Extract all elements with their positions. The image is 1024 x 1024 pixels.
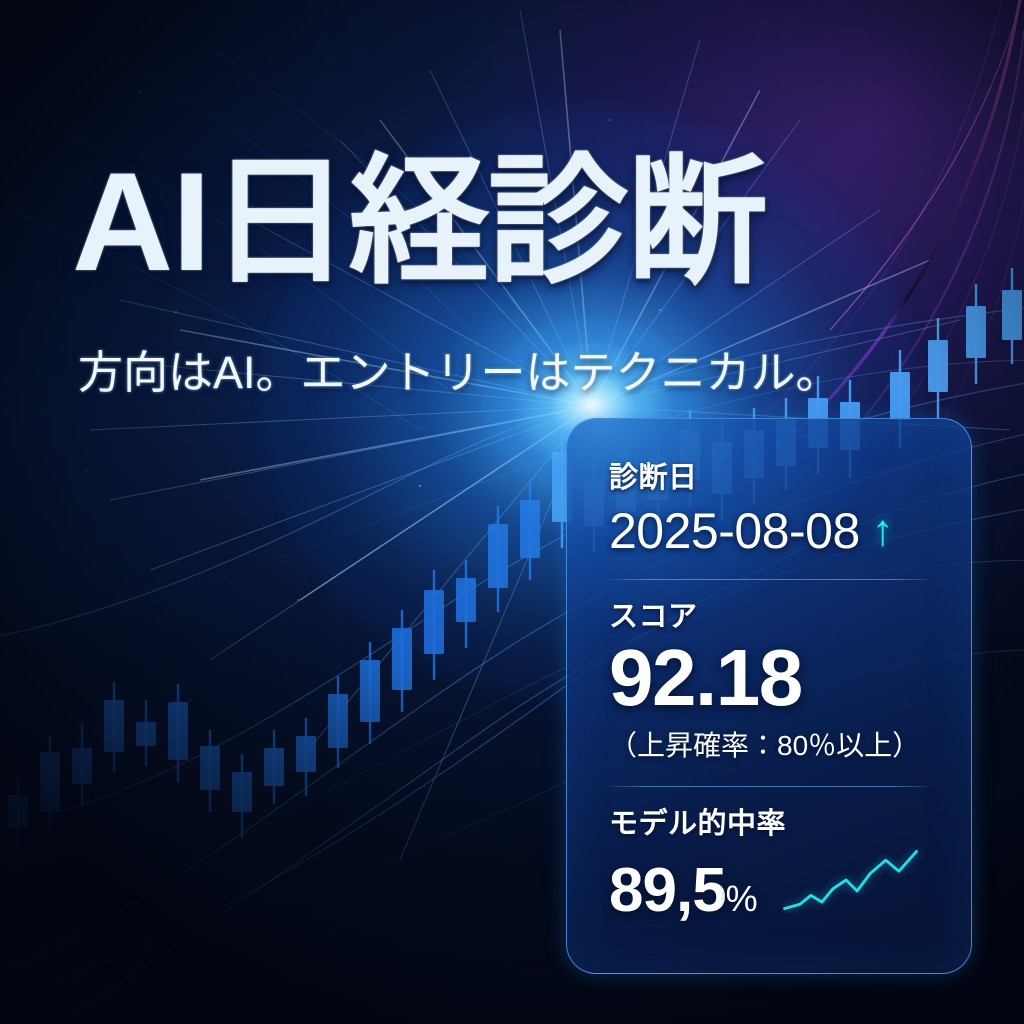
diagnosis-date-label: 診断日 <box>609 463 931 495</box>
card-divider-1 <box>609 579 931 580</box>
model-accuracy-row: 89,5% <box>609 847 931 923</box>
accuracy-sparkline-chart <box>781 847 931 913</box>
score-value: 92.18 <box>609 636 931 720</box>
model-accuracy-number: 89,5 <box>609 856 726 925</box>
model-accuracy-label: モデル的中率 <box>609 809 931 841</box>
diagnosis-date-field: 診断日 2025-08-08 ↑ <box>609 463 931 557</box>
model-accuracy-field: モデル的中率 89,5% <box>609 809 931 923</box>
diagnosis-date-value: 2025-08-08 <box>609 505 860 558</box>
card-divider-2 <box>609 786 931 787</box>
score-note: （上昇確率：80％以上） <box>609 724 931 764</box>
score-field: スコア 92.18 （上昇確率：80％以上） <box>609 602 931 764</box>
model-accuracy-unit: % <box>726 878 758 919</box>
diagnosis-date-row: 2025-08-08 ↑ <box>609 505 931 558</box>
trend-up-arrow-icon: ↑ <box>872 509 894 553</box>
poster-headline: AI日経診断 <box>72 152 952 292</box>
diagnosis-info-card: 診断日 2025-08-08 ↑ スコア 92.18 （上昇確率：80％以上） … <box>566 418 972 974</box>
score-label: スコア <box>609 602 931 634</box>
poster-subheadline: 方向はAI。エントリーはテクニカル。 <box>78 336 841 401</box>
model-accuracy-value: 89,5% <box>609 858 758 923</box>
poster-canvas: AI日経診断 方向はAI。エントリーはテクニカル。 診断日 2025-08-08… <box>0 0 1024 1024</box>
